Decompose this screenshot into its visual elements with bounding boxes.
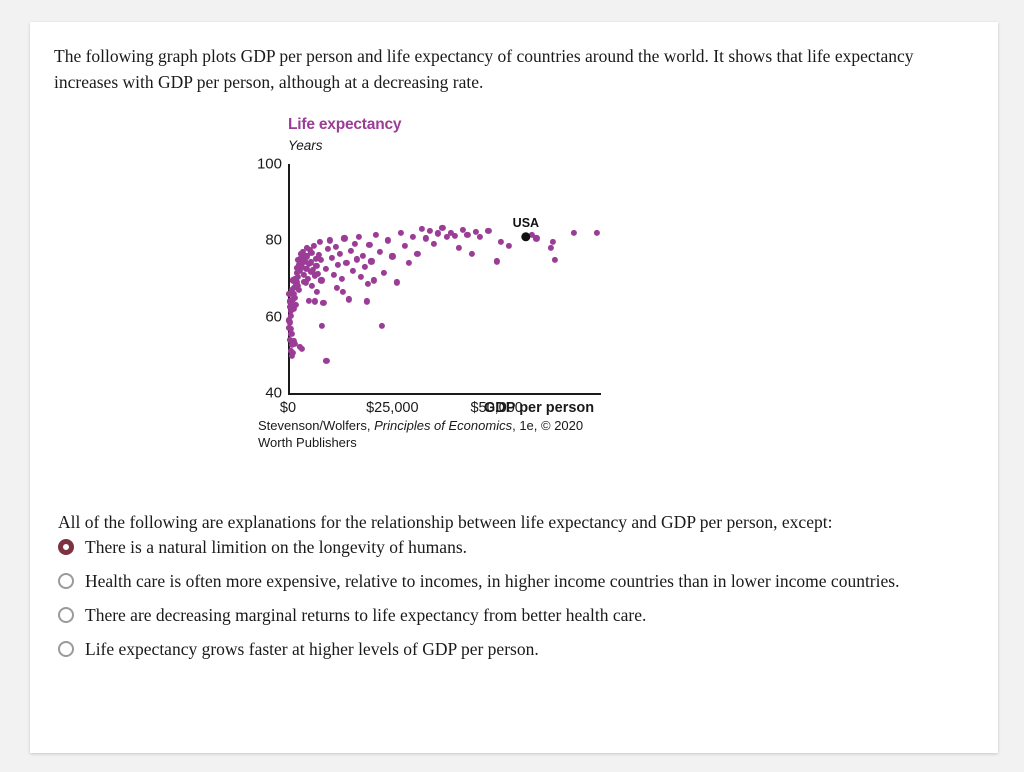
scatter-point (345, 296, 351, 302)
y-axis-tick-label: 80 (265, 232, 282, 249)
scatter-point (299, 346, 305, 352)
scatter-point (435, 230, 441, 236)
radio-button[interactable] (58, 641, 74, 657)
scatter-point (309, 283, 315, 289)
scatter-point (406, 260, 412, 266)
intro-paragraph: The following graph plots GDP per person… (54, 43, 976, 95)
scatter-point (506, 243, 512, 249)
scatter-point (317, 239, 323, 245)
radio-button-selected[interactable] (58, 539, 74, 555)
scatter-point (373, 232, 379, 238)
scatter-point (533, 235, 539, 241)
scatter-point (452, 233, 458, 239)
scatter-point (385, 237, 391, 243)
scatter-point (464, 232, 470, 238)
scatter-point (331, 272, 337, 278)
x-axis-tick-label: $25,000 (366, 400, 418, 416)
scatter-point (381, 270, 387, 276)
scatter-point (366, 242, 372, 248)
source-citation: Stevenson/Wolfers, Principles of Economi… (258, 417, 638, 451)
answer-option-label: Health care is often more expensive, rel… (85, 570, 899, 592)
scatter-point (550, 239, 556, 245)
x-axis-title: GDP per person (484, 400, 594, 416)
scatter-point (594, 230, 600, 236)
scatter-point (354, 256, 360, 262)
answer-option-label: Life expectancy grows faster at higher l… (85, 638, 539, 660)
scatter-point (350, 268, 356, 274)
scatter-point (427, 228, 433, 234)
scatter-point (494, 258, 500, 264)
scatter-point (358, 273, 364, 279)
answer-option-label: There are decreasing marginal returns to… (85, 604, 646, 626)
scatter-point (393, 279, 399, 285)
source-prefix: Stevenson/Wolfers, (258, 418, 374, 433)
scatter-point (337, 251, 343, 257)
scatter-point (356, 233, 362, 239)
scatter-point (303, 280, 309, 286)
scatter-point (341, 235, 347, 241)
scatter-point (329, 254, 335, 260)
scatter-point-usa (521, 232, 530, 241)
answer-option-label: There is a natural limition on the longe… (85, 536, 467, 558)
y-axis-tick-label: 100 (257, 156, 282, 173)
page-wrapper: The following graph plots GDP per person… (0, 0, 1024, 772)
scatter-point (322, 266, 328, 272)
scatter-point (571, 230, 577, 236)
scatter-point (414, 251, 420, 257)
plot-area: 100806040$0$25,000$50,000GDP per personU… (288, 164, 601, 395)
scatter-point (327, 237, 333, 243)
source-book-title: Principles of Economics (374, 418, 512, 433)
scatter-point (320, 300, 326, 306)
y-axis-tick-label: 40 (265, 385, 282, 402)
scatter-point (365, 281, 371, 287)
scatter-point (379, 323, 385, 329)
source-suffix: , 1e, © 2020 (512, 418, 583, 433)
answer-option-1[interactable]: There is a natural limition on the longe… (58, 530, 978, 564)
scatter-point (293, 302, 299, 308)
x-axis-line (288, 393, 601, 395)
scatter-point (311, 243, 317, 249)
scatter-point (335, 262, 341, 268)
scatter-point (389, 253, 395, 259)
scatter-point (339, 276, 345, 282)
scatter-point (364, 298, 370, 304)
scatter-point (314, 289, 320, 295)
scatter-point (360, 253, 366, 259)
scatter-point (312, 298, 318, 304)
scatter-point (456, 245, 462, 251)
answer-options-list: There is a natural limition on the longe… (58, 530, 978, 666)
scatter-point (469, 251, 475, 257)
scatter-point (340, 289, 346, 295)
answer-option-4[interactable]: Life expectancy grows faster at higher l… (58, 632, 978, 666)
scatter-point (377, 249, 383, 255)
scatter-point (343, 260, 349, 266)
scatter-point (402, 243, 408, 249)
radio-button[interactable] (58, 573, 74, 589)
scatter-point (548, 245, 554, 251)
scatter-point (552, 257, 558, 263)
scatter-point (370, 277, 376, 283)
scatter-point (289, 353, 295, 359)
scatter-point (313, 263, 319, 269)
scatter-point (431, 241, 437, 247)
scatter-point (485, 228, 491, 234)
radio-button[interactable] (58, 607, 74, 623)
scatter-point (439, 225, 445, 231)
scatter-point (410, 233, 416, 239)
scatter-point (318, 277, 324, 283)
source-publisher: Worth Publishers (258, 435, 357, 450)
answer-option-2[interactable]: Health care is often more expensive, rel… (58, 564, 978, 598)
annotation-usa-label: USA (513, 216, 539, 230)
scatter-point (418, 226, 424, 232)
scatter-point (296, 287, 302, 293)
scatter-point (498, 239, 504, 245)
scatter-plot-figure: Life expectancy Years 100806040$0$25,000… (226, 92, 646, 472)
scatter-point (348, 248, 354, 254)
chart-title: Life expectancy (288, 116, 401, 134)
scatter-point (333, 244, 339, 250)
question-card: The following graph plots GDP per person… (30, 22, 998, 753)
scatter-point (423, 235, 429, 241)
answer-option-3[interactable]: There are decreasing marginal returns to… (58, 598, 978, 632)
scatter-point (317, 257, 323, 263)
y-axis-tick-label: 60 (265, 308, 282, 325)
scatter-point (352, 241, 358, 247)
x-axis-tick-label: $0 (280, 400, 296, 416)
scatter-point (368, 258, 374, 264)
scatter-point (362, 264, 368, 270)
scatter-point (315, 271, 321, 277)
scatter-point (477, 233, 483, 239)
scatter-point (325, 246, 331, 252)
scatter-point (323, 357, 329, 363)
chart-subtitle: Years (288, 138, 323, 153)
scatter-point (319, 323, 325, 329)
scatter-point (308, 249, 314, 255)
scatter-point (398, 230, 404, 236)
